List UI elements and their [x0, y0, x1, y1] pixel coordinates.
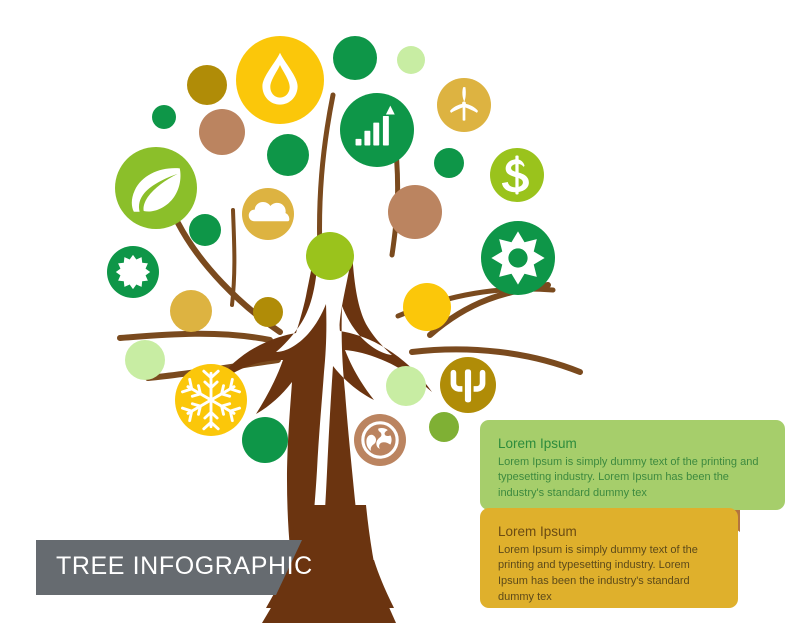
callout-orange[interactable]: Lorem Ipsum Lorem Ipsum is simply dummy … [480, 508, 738, 608]
icon-badge-snowflake[interactable] [175, 364, 247, 436]
callout-green-body: Lorem Ipsum is simply dummy text of the … [498, 455, 760, 502]
leaf-circle [388, 185, 442, 239]
callout-green[interactable]: Lorem Ipsum Lorem Ipsum is simply dummy … [480, 420, 785, 510]
icon-badge-wind-power[interactable] [437, 78, 491, 132]
trunk-base [262, 596, 396, 623]
sun-center-hole [508, 248, 527, 267]
leaf-circle [386, 366, 426, 406]
leaf-circle [397, 46, 425, 74]
leaf-circle [434, 148, 464, 178]
icon-badge-settings[interactable] [107, 246, 159, 298]
leaf-circle [333, 36, 377, 80]
branch-inner-left [232, 210, 234, 305]
leaf-circle [170, 290, 212, 332]
icon-badge-desert[interactable] [440, 357, 496, 413]
icon-badge-cloud[interactable] [242, 188, 294, 240]
icon-badge-money[interactable] [490, 148, 544, 202]
leaf-circle [253, 297, 283, 327]
branch-right-low [412, 349, 580, 372]
leaf-circle [267, 134, 309, 176]
callout-orange-title: Lorem Ipsum [498, 524, 720, 541]
branch-upper-center [320, 95, 333, 255]
icon-badge-solar[interactable] [481, 221, 555, 295]
leaf-circle [189, 214, 221, 246]
leaf-circle [152, 105, 176, 129]
icon-badge-water-drop[interactable] [236, 36, 324, 124]
callout-green-title: Lorem Ipsum [498, 436, 767, 453]
leaf-circle [429, 412, 459, 442]
icon-badge-background [115, 147, 197, 229]
infographic-canvas: TREE INFOGRAPHIC Lorem Ipsum Lorem Ipsum… [0, 0, 800, 623]
leaf-circle [306, 232, 354, 280]
icon-badge-globe[interactable] [354, 414, 406, 466]
branch-left-long [120, 334, 270, 340]
leaf-circle [403, 283, 451, 331]
leaf-circle [242, 417, 288, 463]
leaf-circle [187, 65, 227, 105]
icon-badge-background [236, 36, 324, 124]
leaf-circle [199, 109, 245, 155]
title-banner [36, 540, 302, 595]
icon-badge-eco-leaf[interactable] [115, 147, 197, 229]
leaf-circle [125, 340, 165, 380]
icon-badge-growth-chart[interactable] [340, 93, 414, 167]
callout-orange-body: Lorem Ipsum is simply dummy text of the … [498, 543, 720, 605]
